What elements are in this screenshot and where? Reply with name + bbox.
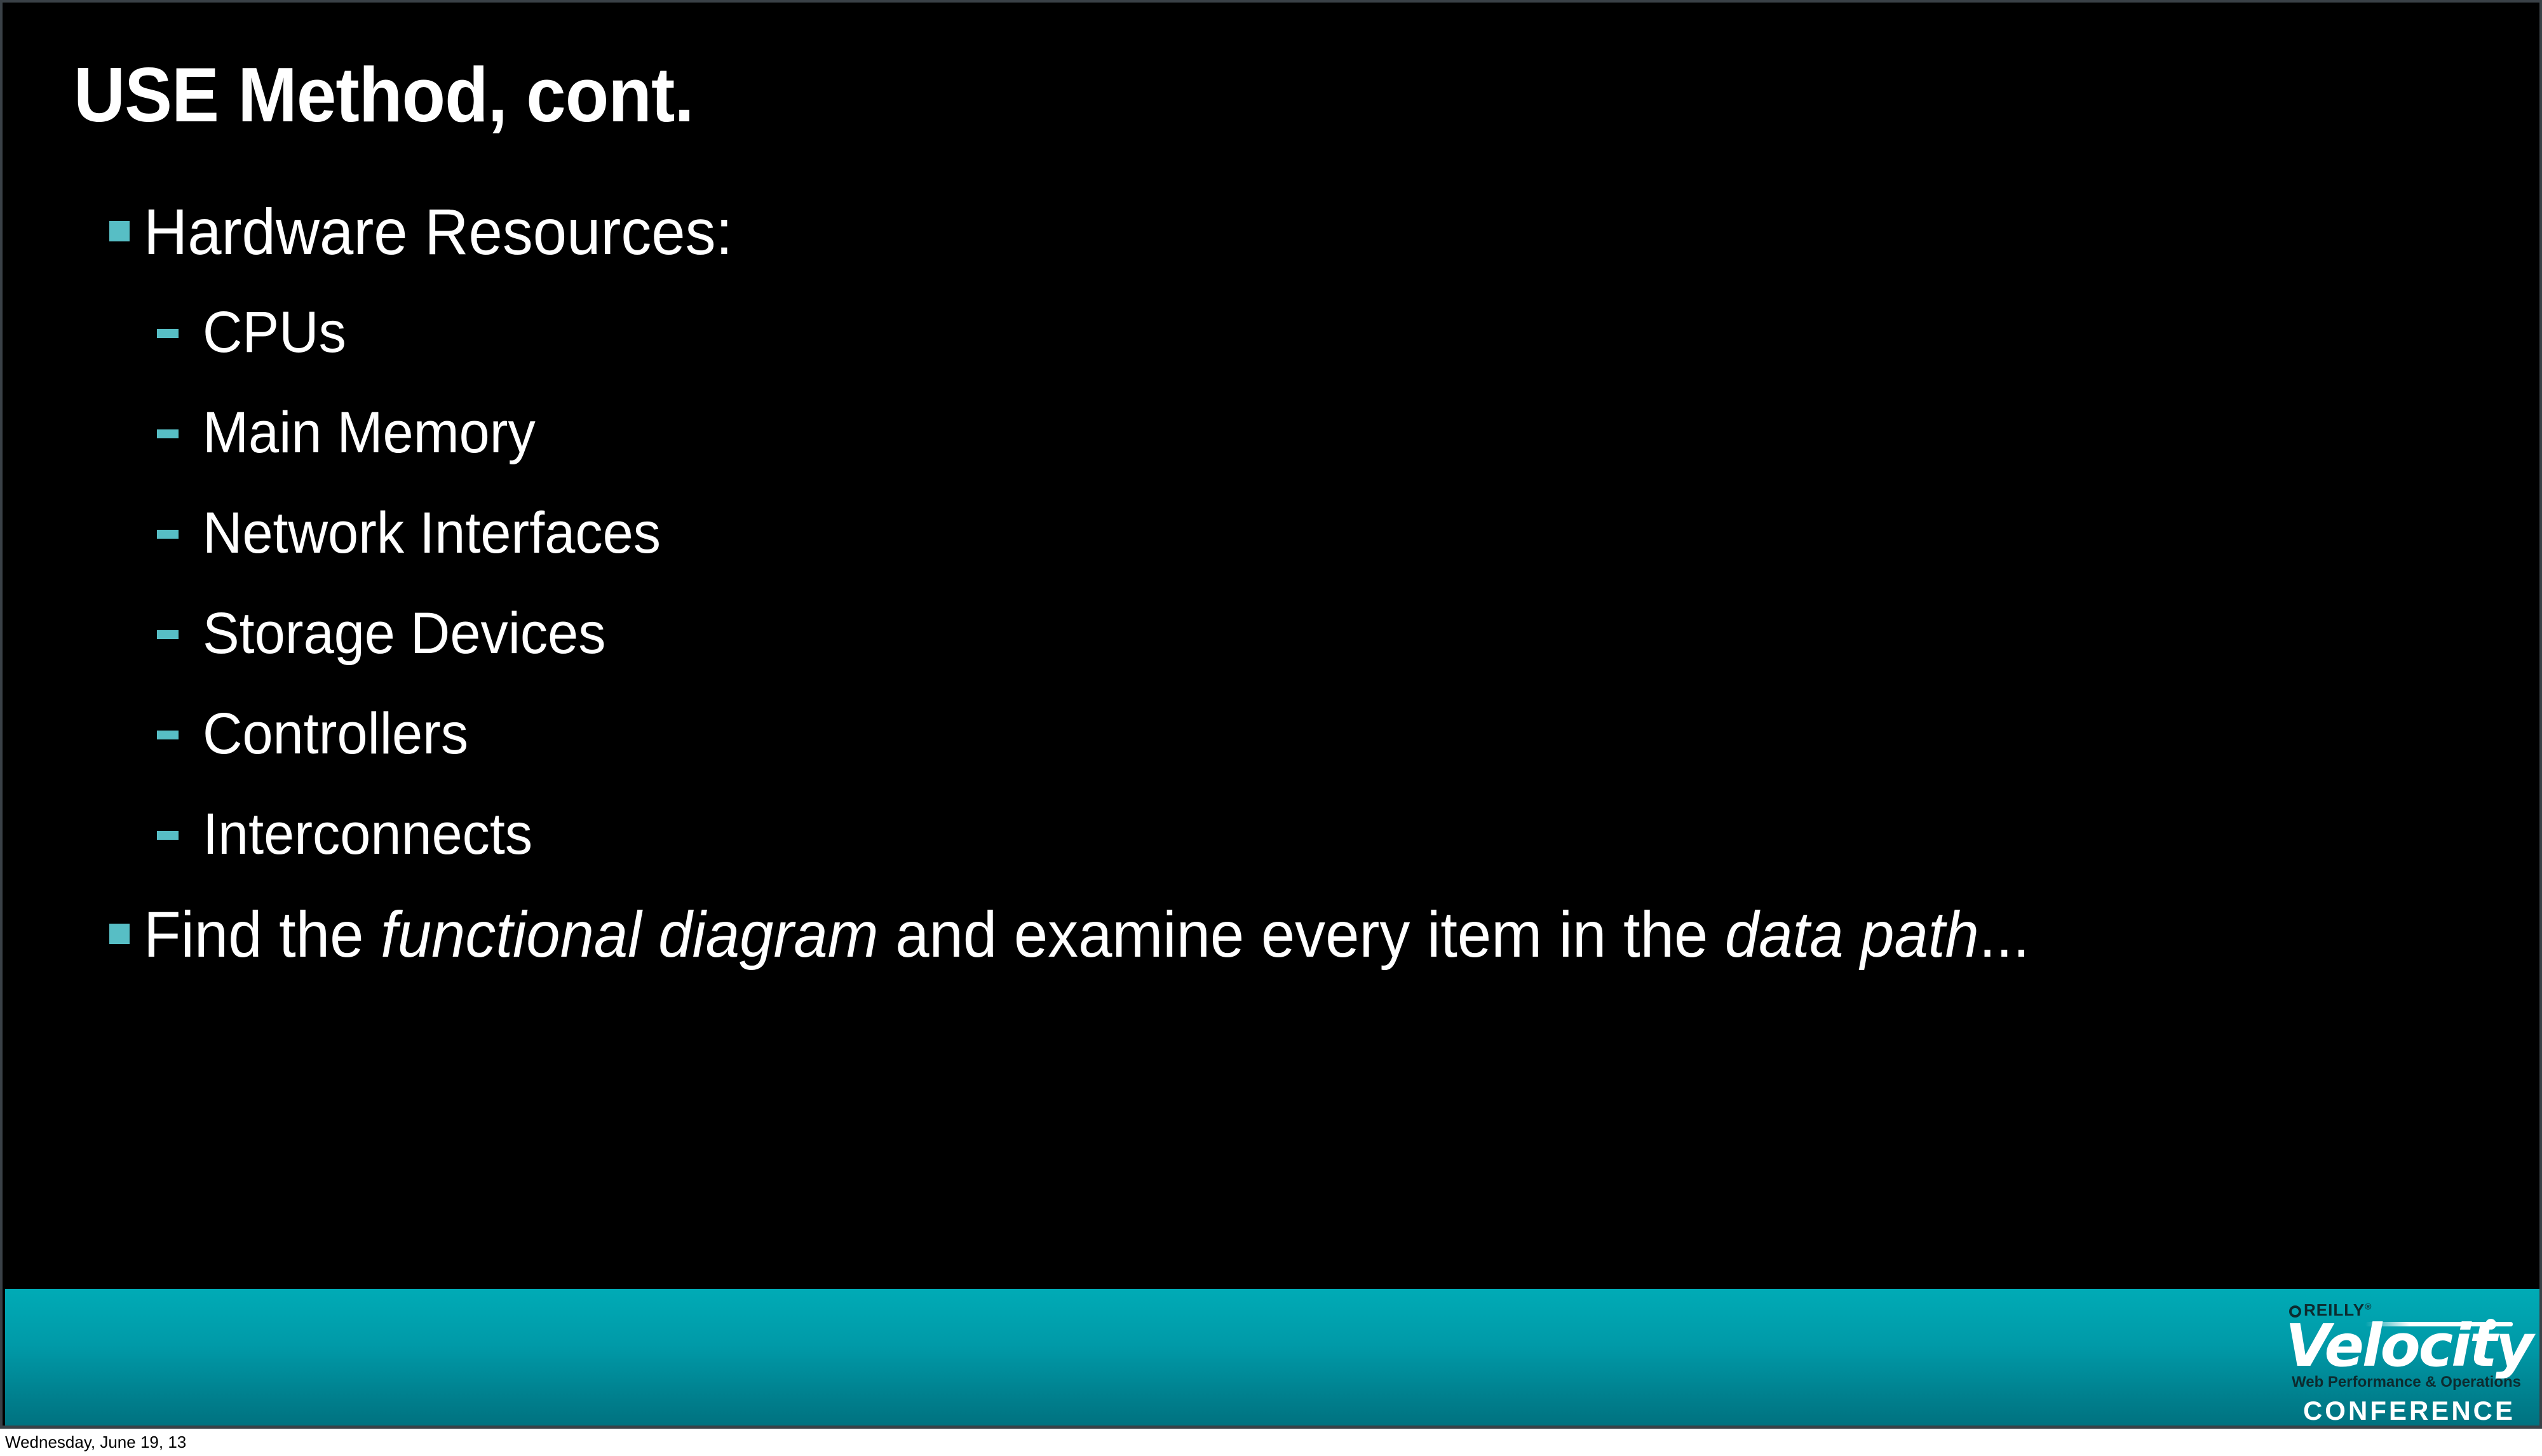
velocity-swoosh-icon [2365, 1322, 2513, 1326]
final-text-emphasis2: data path [1725, 898, 1979, 971]
dash-bullet-icon [157, 831, 179, 840]
list-item: Hardware Resources: [3, 182, 2480, 282]
slide-frame: USE Method, cont. Hardware Resources: CP… [0, 0, 2542, 1456]
dash-bullet-icon [157, 429, 179, 438]
final-text-emphasis1: functional diagram [381, 898, 878, 971]
dash-bullet-icon [157, 630, 179, 639]
bullet-list: Hardware Resources: CPUs Main Memory Net… [3, 182, 2480, 985]
slide-canvas: USE Method, cont. Hardware Resources: CP… [0, 0, 2542, 1429]
page-title: USE Method, cont. [74, 52, 694, 137]
footer-strip: Wednesday, June 19, 13 [0, 1429, 2542, 1456]
list-item-label: Network Interfaces [203, 483, 661, 583]
final-text-part3: ... [1979, 898, 2030, 971]
square-bullet-icon [109, 924, 130, 944]
list-item: Main Memory [3, 382, 2480, 483]
list-item: Interconnects [3, 784, 2480, 884]
list-item-label: Interconnects [203, 784, 532, 884]
list-item-label: Main Memory [203, 382, 536, 483]
dash-bullet-icon [157, 530, 179, 539]
registered-trademark-icon: ® [2365, 1301, 2372, 1311]
list-item-final: Find the functional diagram and examine … [3, 884, 2480, 985]
list-item: Storage Devices [3, 583, 2480, 684]
velocity-brand-name: Velocity [2283, 1318, 2515, 1373]
velocity-conference-logo: REILLY® Velocity Web Performance & Opera… [2283, 1297, 2518, 1424]
list-item-label: Hardware Resources: [144, 182, 733, 282]
footer-date: Wednesday, June 19, 13 [5, 1432, 186, 1452]
list-item: Network Interfaces [3, 483, 2480, 583]
dash-bullet-icon [157, 731, 179, 739]
final-text-part2: and examine every item in the [879, 898, 1725, 971]
list-item-label-final: Find the functional diagram and examine … [144, 884, 2030, 985]
list-item: CPUs [3, 282, 2480, 382]
dash-bullet-icon [157, 329, 179, 338]
square-bullet-icon [109, 221, 130, 241]
list-item-label: CPUs [203, 282, 346, 382]
list-item: Controllers [3, 684, 2480, 784]
velocity-event-type: CONFERENCE [2283, 1398, 2515, 1424]
footer-band: REILLY® Velocity Web Performance & Opera… [5, 1289, 2542, 1429]
list-item-label: Storage Devices [203, 583, 606, 684]
final-text-part1: Find the [144, 898, 381, 971]
list-item-label: Controllers [203, 684, 468, 784]
